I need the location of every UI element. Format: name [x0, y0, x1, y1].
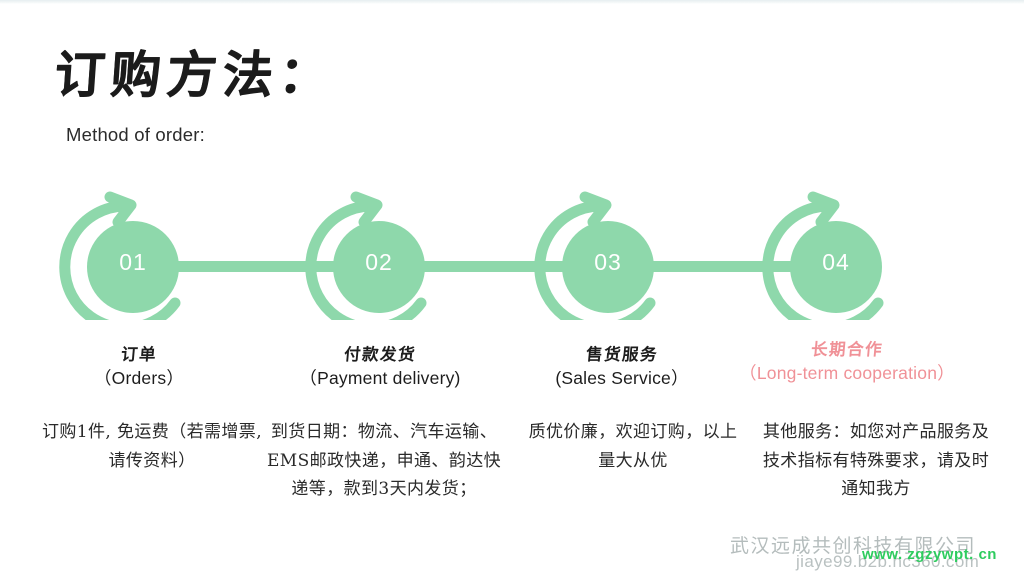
step-label-04: 长期合作 （Long-term cooperation） — [722, 341, 972, 385]
top-edge-band — [0, 0, 1024, 4]
step-label-cn-02: 付款发货 — [343, 346, 417, 365]
step-number-03: 03 — [548, 251, 668, 274]
page-title-en: Method of order: — [66, 124, 205, 146]
step-label-03: 售货服务 (Sales Service） — [497, 346, 747, 390]
step-body-04: 其他服务：如您对产品服务及技术指标有特殊要求，请及时通知我方 — [758, 418, 994, 504]
connector-lines — [133, 261, 836, 272]
watermark-site-hc360: jiaye99.b2b.hc360.com — [796, 552, 979, 572]
step-label-en-01: （Orders） — [14, 367, 264, 390]
page-title-cn: 订购方法： — [52, 35, 337, 107]
step-label-01: 订单 （Orders） — [14, 346, 264, 390]
step-label-en-02: （Payment delivery) — [255, 367, 505, 390]
step-body-01: 订购1件, 免运费（若需增票, 请传资料） — [38, 418, 266, 475]
step-label-02: 付款发货 （Payment delivery) — [255, 346, 505, 390]
step-label-en-04: （Long-term cooperation） — [722, 362, 972, 385]
step-body-02: 到货日期：物流、汽车运输、EMS邮政快递，申通、韵达快递等，款到3天内发货； — [261, 418, 507, 504]
watermark-company: 武汉远成共创科技有限公司 — [730, 531, 976, 558]
step-number-02: 02 — [319, 251, 439, 274]
process-diagram — [0, 160, 1024, 320]
step-body-03: 质优价廉，欢迎订购，以上量大从优 — [528, 418, 738, 475]
step-number-01: 01 — [73, 251, 193, 274]
step-label-cn-01: 订单 — [120, 346, 158, 365]
step-label-cn-03: 售货服务 — [585, 346, 659, 365]
step-number-04: 04 — [776, 251, 896, 274]
step-label-cn-04: 长期合作 — [810, 341, 884, 360]
watermark-site-zgzywpt: www. zgzywpt. cn — [862, 546, 997, 563]
step-label-en-03: (Sales Service） — [497, 367, 747, 390]
slide-canvas: 订购方法： Method of order: — [0, 0, 1024, 576]
